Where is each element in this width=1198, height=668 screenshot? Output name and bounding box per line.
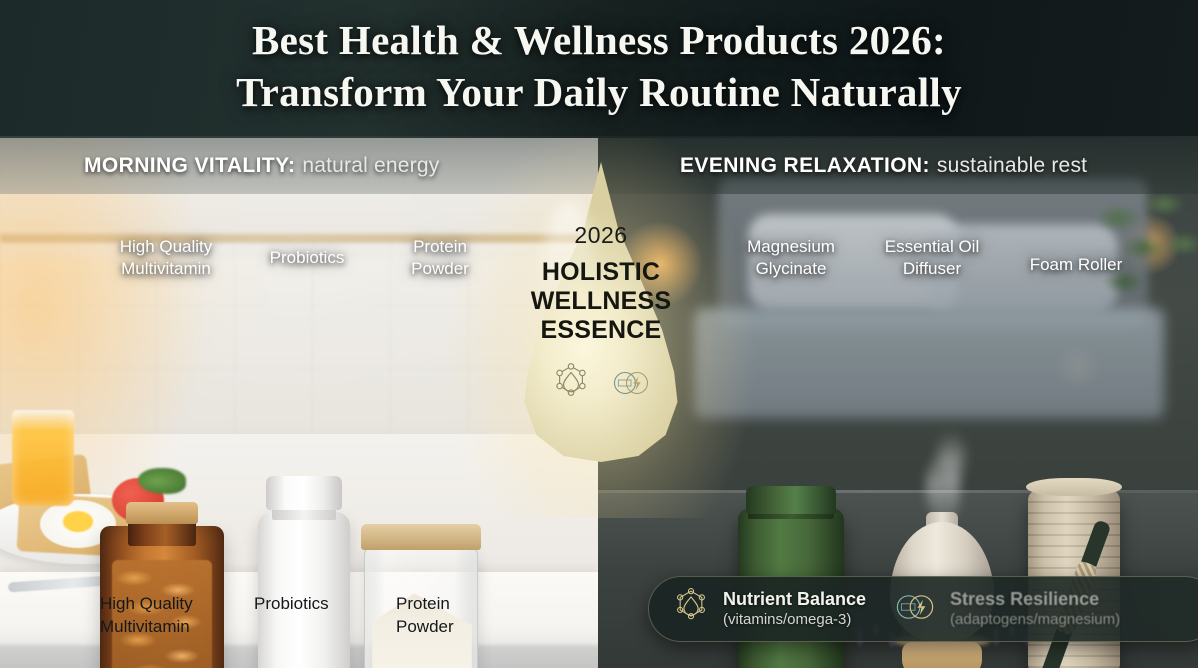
orange-juice-glass bbox=[12, 410, 74, 506]
diffuser-steam-wisp bbox=[938, 430, 964, 486]
feature-stress-resilience-text: Stress Resilience (adaptogens/magnesium) bbox=[950, 589, 1120, 629]
magnesium-bottle-cap bbox=[746, 486, 836, 514]
title-line-2: Transform Your Daily Routine Naturally bbox=[40, 66, 1158, 118]
bottom-label-protein-powder: Protein Powder bbox=[396, 592, 516, 638]
holistic-wellness-badge: 2026 HOLISTIC WELLNESS ESSENCE bbox=[508, 162, 694, 472]
diffuser-wood-base bbox=[902, 642, 982, 668]
feature-stress-resilience: Stress Resilience (adaptogens/magnesium) bbox=[892, 589, 1120, 629]
feature-nutrient-balance-text: Nutrient Balance (vitamins/omega-3) bbox=[723, 589, 866, 629]
feature-badge-bar: Nutrient Balance (vitamins/omega-3) Stre… bbox=[648, 576, 1198, 642]
evening-heading-soft: sustainable rest bbox=[937, 154, 1087, 178]
top-label-protein-powder: Protein Powder bbox=[380, 236, 500, 280]
title-bar: Best Health & Wellness Products 2026: Tr… bbox=[0, 0, 1198, 138]
protein-jar-wooden-lid bbox=[361, 524, 481, 550]
feature-title-nutrient-balance: Nutrient Balance bbox=[723, 589, 866, 610]
title-line-1: Best Health & Wellness Products 2026: bbox=[40, 14, 1158, 66]
top-label-essential-oil-diffuser: Essential Oil Diffuser bbox=[862, 236, 1002, 280]
feature-subtitle-stress-resilience: (adaptogens/magnesium) bbox=[950, 610, 1120, 629]
feature-subtitle-nutrient-balance: (vitamins/omega-3) bbox=[723, 610, 866, 629]
top-label-foam-roller: Foam Roller bbox=[1008, 254, 1144, 276]
badge-title: HOLISTIC WELLNESS ESSENCE bbox=[508, 258, 694, 345]
molecule-droplet-icon bbox=[550, 362, 592, 404]
morning-heading-strong: MORNING VITALITY: bbox=[84, 154, 295, 178]
badge-year: 2026 bbox=[508, 222, 694, 249]
multivitamin-bottle bbox=[100, 502, 224, 668]
bottom-label-multivitamin: High Quality Multivitamin bbox=[100, 592, 250, 638]
bottom-label-probiotics: Probiotics bbox=[254, 592, 384, 615]
venn-bolt-icon bbox=[892, 591, 938, 628]
foam-roller-top bbox=[1026, 478, 1122, 496]
page-title: Best Health & Wellness Products 2026: Tr… bbox=[0, 14, 1198, 118]
feature-title-stress-resilience: Stress Resilience bbox=[950, 589, 1120, 610]
feature-nutrient-balance: Nutrient Balance (vitamins/omega-3) bbox=[671, 587, 866, 632]
top-label-multivitamin: High Quality Multivitamin bbox=[88, 236, 244, 280]
top-label-magnesium-glycinate: Magnesium Glycinate bbox=[716, 236, 866, 280]
top-label-probiotics: Probiotics bbox=[244, 247, 370, 269]
evening-heading-strong: EVENING RELAXATION: bbox=[680, 154, 930, 178]
probiotics-bottle bbox=[256, 474, 352, 668]
multivitamin-cork-lid bbox=[126, 502, 198, 524]
probiotics-bottle-body bbox=[258, 512, 350, 668]
morning-heading-soft: natural energy bbox=[302, 154, 439, 178]
venn-bolt-icon bbox=[610, 368, 652, 398]
infographic-poster: Best Health & Wellness Products 2026: Tr… bbox=[0, 0, 1198, 668]
basil-leaf bbox=[138, 468, 186, 494]
badge-icon-row bbox=[508, 362, 694, 404]
houseplant bbox=[1088, 178, 1198, 378]
probiotics-cap bbox=[266, 476, 342, 510]
molecule-droplet-icon bbox=[671, 587, 711, 632]
